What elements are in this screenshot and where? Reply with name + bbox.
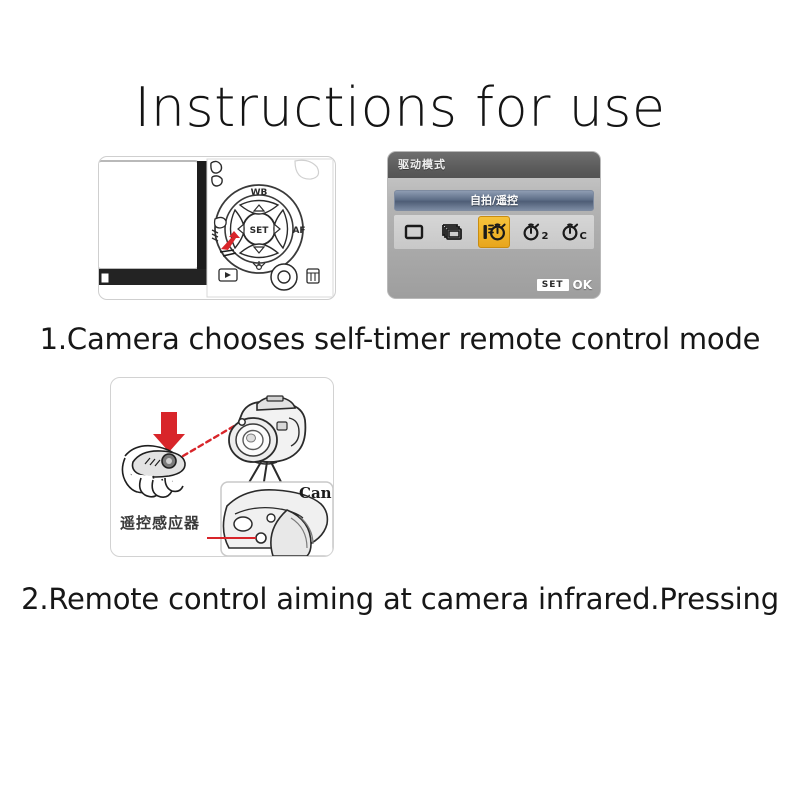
menu-title: 驱动模式 [388, 152, 600, 178]
menu-selected-item[interactable]: 自拍/遥控 [394, 190, 594, 211]
remote-sensor-label: 遥控感应器 [120, 512, 200, 533]
set-key-chip: SET [537, 279, 569, 291]
menu-footer: SET OK [537, 278, 592, 292]
wb-button-label: WB [251, 188, 268, 198]
hand-holding-remote [122, 446, 185, 498]
camera-menu-screen: 驱动模式 自拍/遥控 [388, 152, 600, 298]
remote-sensor-target [256, 533, 266, 543]
camera-back-figure: SET WB AF [98, 156, 336, 300]
playback-button [219, 269, 237, 281]
drive-mode-continuous-shooting[interactable] [438, 217, 468, 247]
dslr-camera [229, 396, 305, 488]
ok-label: OK [573, 278, 593, 292]
quick-control-dial [271, 264, 297, 290]
drive-mode-self-timer-continuous[interactable]: C [559, 217, 589, 247]
step-2-caption: 2.Remote control aiming at camera infrar… [0, 582, 800, 616]
drive-mode-self-timer-remote[interactable] [478, 216, 510, 248]
camera-back-drawing: SET WB AF [99, 157, 335, 299]
timer-continuous-label: C [580, 231, 587, 242]
page-title: Instructions for use [0, 76, 800, 139]
brand-text: Can [299, 484, 332, 502]
drive-mode-options: 2 C [394, 215, 594, 249]
trash-button [307, 269, 319, 283]
step-1-caption: 1.Camera chooses self-timer remote contr… [0, 322, 800, 356]
set-button-label: SET [250, 226, 270, 236]
af-button-label: AF [292, 226, 305, 236]
menu-body: 自拍/遥控 [388, 178, 600, 298]
sensor-closeup-inset: Can [221, 482, 333, 556]
press-arrow-icon [153, 412, 185, 452]
drive-mode-self-timer-2sec[interactable]: 2 [520, 217, 550, 247]
drive-mode-single-shooting[interactable] [399, 217, 429, 247]
timer-2sec-label: 2 [541, 231, 548, 242]
